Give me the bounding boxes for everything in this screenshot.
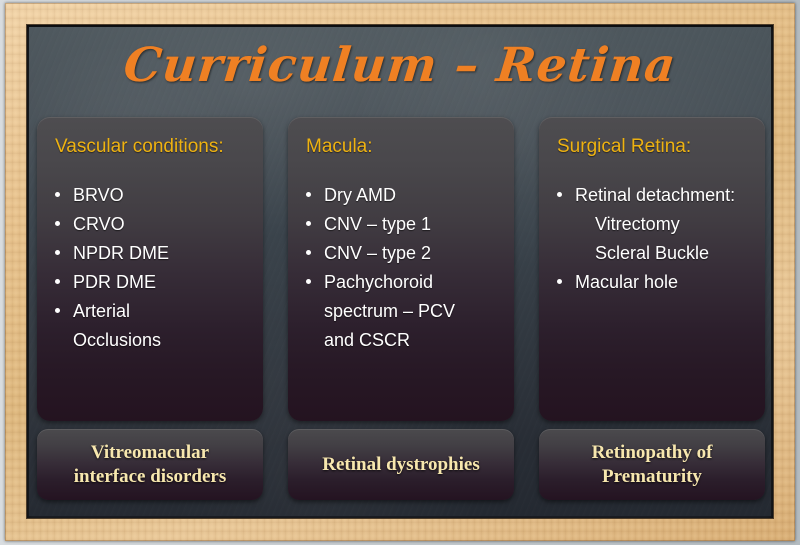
column-macula: Macula: Dry AMD CNV – type 1 CNV – type … xyxy=(288,117,514,500)
column-surgical: Surgical Retina: Retinal detachment: Vit… xyxy=(539,117,765,500)
footer-box-retinal-dystrophies[interactable]: Retinal dystrophies xyxy=(288,429,514,500)
list-item-label: CRVO xyxy=(73,214,125,234)
bullet-dot-icon xyxy=(557,279,562,284)
column-vascular: Vascular conditions: BRVO CRVO NPDR DME xyxy=(37,117,263,500)
list-item-continuation-2: and CSCR xyxy=(324,326,502,355)
list-item: Pachychoroid spectrum – PCV and CSCR xyxy=(302,268,502,355)
card-surgical-retina[interactable]: Surgical Retina: Retinal detachment: Vit… xyxy=(539,117,765,421)
list-item: Arterial Occlusions xyxy=(51,297,251,355)
columns-container: Vascular conditions: BRVO CRVO NPDR DME xyxy=(37,117,765,500)
bullet-list: BRVO CRVO NPDR DME PDR DME xyxy=(51,181,251,355)
footer-box-vitreomacular[interactable]: Vitreomacularinterface disorders xyxy=(37,429,263,500)
list-item: BRVO xyxy=(51,181,251,210)
card-heading: Surgical Retina: xyxy=(557,135,753,159)
card-heading: Macula: xyxy=(306,135,502,159)
list-item: CNV – type 2 xyxy=(302,239,502,268)
bullet-list: Dry AMD CNV – type 1 CNV – type 2 Pachyc… xyxy=(302,181,502,355)
list-item-label: Retinal detachment: xyxy=(575,185,735,205)
list-item-label: Arterial xyxy=(73,301,130,321)
list-item: Macular hole xyxy=(553,268,753,297)
list-item-continuation: Occlusions xyxy=(73,326,251,355)
list-item-label: Pachychoroid xyxy=(324,272,433,292)
card-heading: Vascular conditions: xyxy=(55,135,251,159)
list-item-label: CNV – type 1 xyxy=(324,214,431,234)
bullet-dot-icon xyxy=(306,279,311,284)
list-item: PDR DME xyxy=(51,268,251,297)
bullet-dot-icon xyxy=(55,221,60,226)
list-item: CRVO xyxy=(51,210,251,239)
list-item-continuation: spectrum – PCV xyxy=(324,297,502,326)
list-item-label: PDR DME xyxy=(73,272,156,292)
list-item: Retinal detachment: Vitrectomy Scleral B… xyxy=(553,181,753,268)
list-item-label: Dry AMD xyxy=(324,185,396,205)
bullet-dot-icon xyxy=(55,308,60,313)
list-item: NPDR DME xyxy=(51,239,251,268)
bullet-list: Retinal detachment: Vitrectomy Scleral B… xyxy=(553,181,753,297)
slide-chalkboard: Curriculum – Retina Vascular conditions:… xyxy=(0,0,800,545)
list-item: CNV – type 1 xyxy=(302,210,502,239)
bullet-dot-icon xyxy=(55,192,60,197)
bullet-dot-icon xyxy=(306,192,311,197)
list-item-label: Macular hole xyxy=(575,272,678,292)
list-item-label: CNV – type 2 xyxy=(324,243,431,263)
bullet-dot-icon xyxy=(306,221,311,226)
bullet-dot-icon xyxy=(55,279,60,284)
list-item-label: NPDR DME xyxy=(73,243,169,263)
footer-box-rop[interactable]: Retinopathy ofPrematurity xyxy=(539,429,765,500)
card-macula[interactable]: Macula: Dry AMD CNV – type 1 CNV – type … xyxy=(288,117,514,421)
list-item: Dry AMD xyxy=(302,181,502,210)
bullet-dot-icon xyxy=(55,250,60,255)
list-item-subitem: Vitrectomy xyxy=(575,210,753,239)
page-title: Curriculum – Retina xyxy=(0,38,800,93)
list-item-subitem-2: Scleral Buckle xyxy=(575,239,753,268)
card-vascular[interactable]: Vascular conditions: BRVO CRVO NPDR DME xyxy=(37,117,263,421)
list-item-label: BRVO xyxy=(73,185,124,205)
bullet-dot-icon xyxy=(306,250,311,255)
bullet-dot-icon xyxy=(557,192,562,197)
